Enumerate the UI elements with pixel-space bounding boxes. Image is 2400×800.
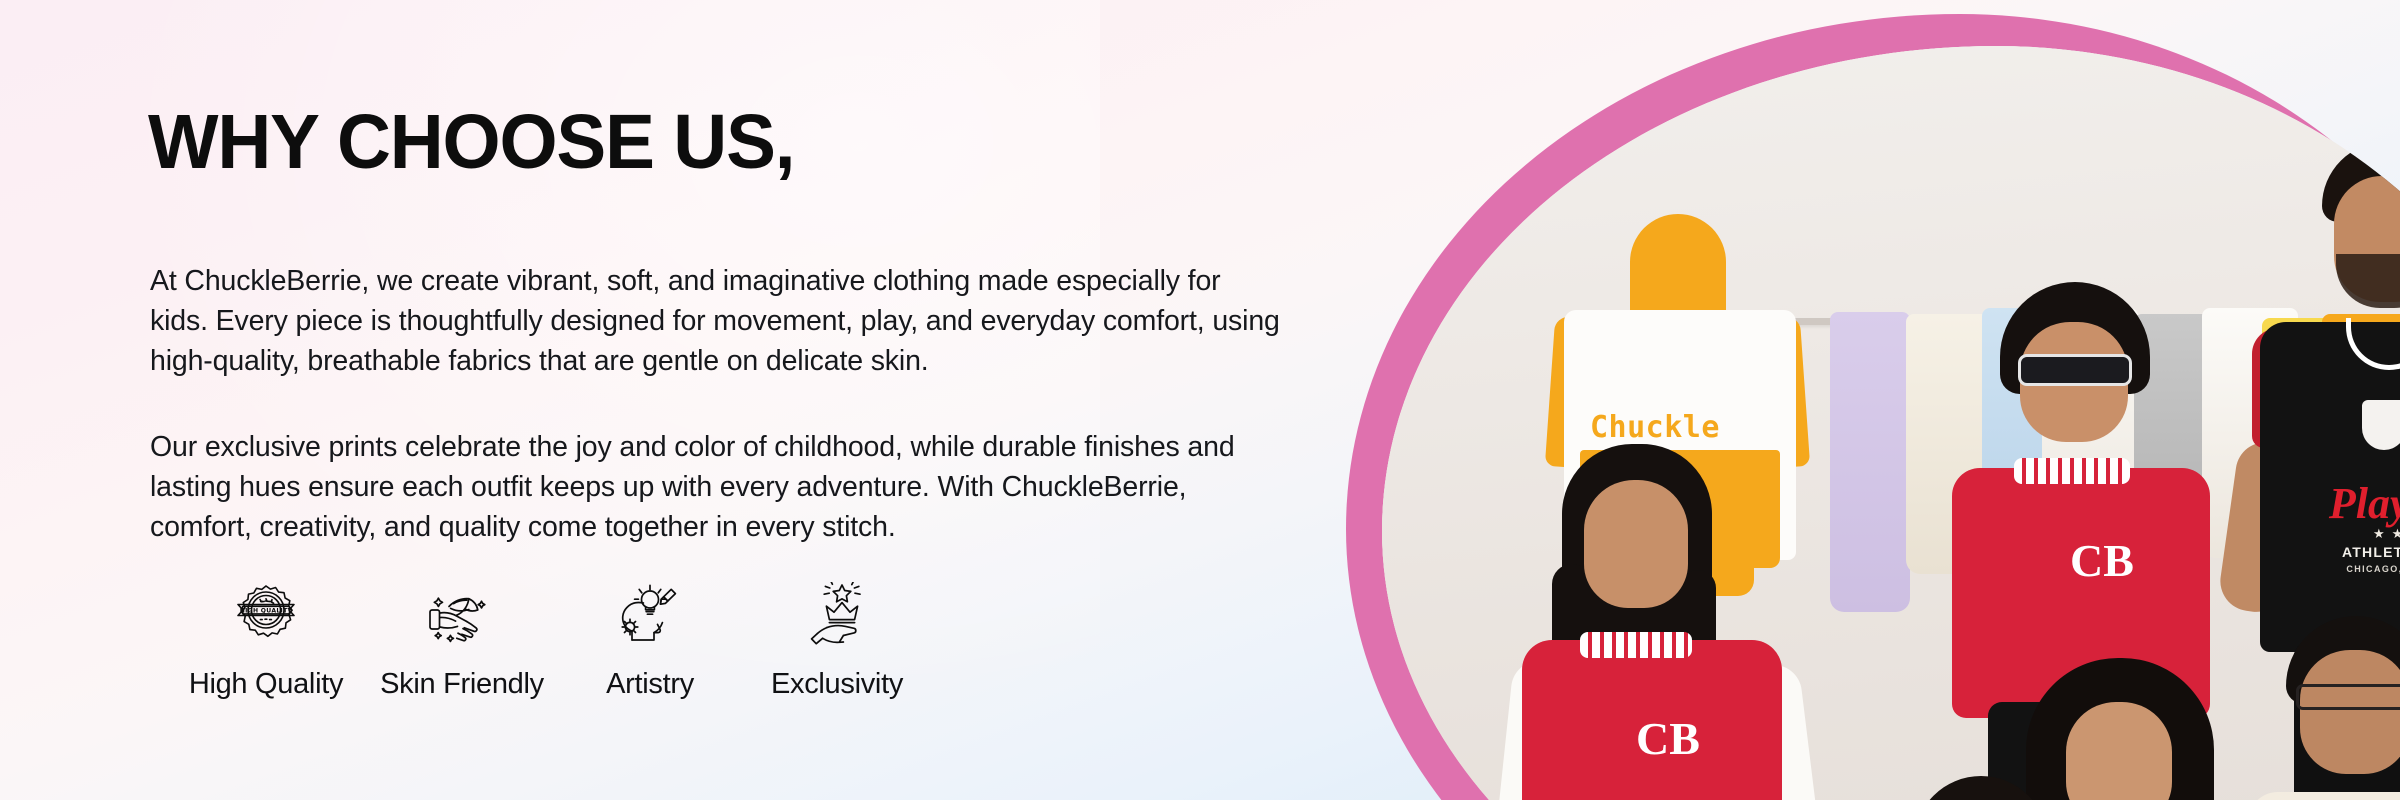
- feature-item-artistry[interactable]: Artistry: [570, 578, 730, 701]
- text-content-column: WHY CHOOSE US, At ChuckleBerrie, we crea…: [148, 0, 1328, 800]
- intro-paragraph-1: At ChuckleBerrie, we create vibrant, sof…: [150, 262, 1280, 381]
- beard: [2336, 254, 2400, 308]
- feature-label: Exclusivity: [771, 668, 903, 701]
- feature-list: HIGH QUALITY High Quality: [148, 578, 932, 701]
- jacket-collar: [2014, 458, 2130, 484]
- hair: [1914, 776, 2048, 800]
- jersey-city-text: CHICAGO, ILLINOIS: [2306, 564, 2400, 574]
- page-title: WHY CHOOSE US,: [148, 104, 794, 181]
- svg-text:HIGH QUALITY: HIGH QUALITY: [240, 607, 293, 614]
- feature-item-high-quality[interactable]: HIGH QUALITY High Quality: [170, 578, 362, 701]
- jacket-collar: [1580, 632, 1692, 658]
- feature-label: Skin Friendly: [380, 668, 544, 701]
- face: [1584, 480, 1688, 608]
- feature-item-skin-friendly[interactable]: Skin Friendly: [362, 578, 562, 701]
- quality-badge-icon: HIGH QUALITY: [224, 578, 308, 650]
- intro-paragraph-2: Our exclusive prints celebrate the joy a…: [150, 428, 1280, 547]
- person-girl-seated: CB: [1508, 444, 1808, 800]
- hand-crown-icon: [795, 578, 879, 650]
- paragraph-text: At ChuckleBerrie, we create vibrant, sof…: [150, 262, 1280, 381]
- head-lightbulb-pencil-icon: [608, 578, 692, 650]
- jersey-crest: [2362, 400, 2400, 450]
- sunglasses: [2018, 354, 2132, 386]
- hero-photograph: Chuckle Squad CB: [1382, 46, 2400, 800]
- jersey-stars: ★★★: [2306, 526, 2400, 542]
- jacket-monogram: CB: [1636, 712, 1706, 778]
- feature-label: Artistry: [606, 668, 694, 701]
- jacket-monogram: CB: [2070, 534, 2140, 600]
- hand-feather-icon: [420, 578, 504, 650]
- feature-item-exclusivity[interactable]: Exclusivity: [742, 578, 932, 701]
- jersey-brand-text: Playboy: [2306, 478, 2400, 529]
- garment-lilac: [1830, 312, 1910, 612]
- hero-photo-panel: Chuckle Squad CB: [1320, 0, 2400, 800]
- hoodie-text-chuckle: Chuckle: [1590, 410, 1720, 445]
- feature-label: High Quality: [189, 668, 343, 701]
- face: [2300, 650, 2400, 774]
- paragraph-text: Our exclusive prints celebrate the joy a…: [150, 428, 1280, 547]
- person-boy-front: [1880, 776, 2130, 800]
- photo-mask: Chuckle Squad CB: [1382, 46, 2400, 800]
- jersey-dept-text: ATHLETIC DPT.: [2306, 544, 2400, 560]
- why-choose-us-banner: Chuckle Squad CB: [0, 0, 2400, 800]
